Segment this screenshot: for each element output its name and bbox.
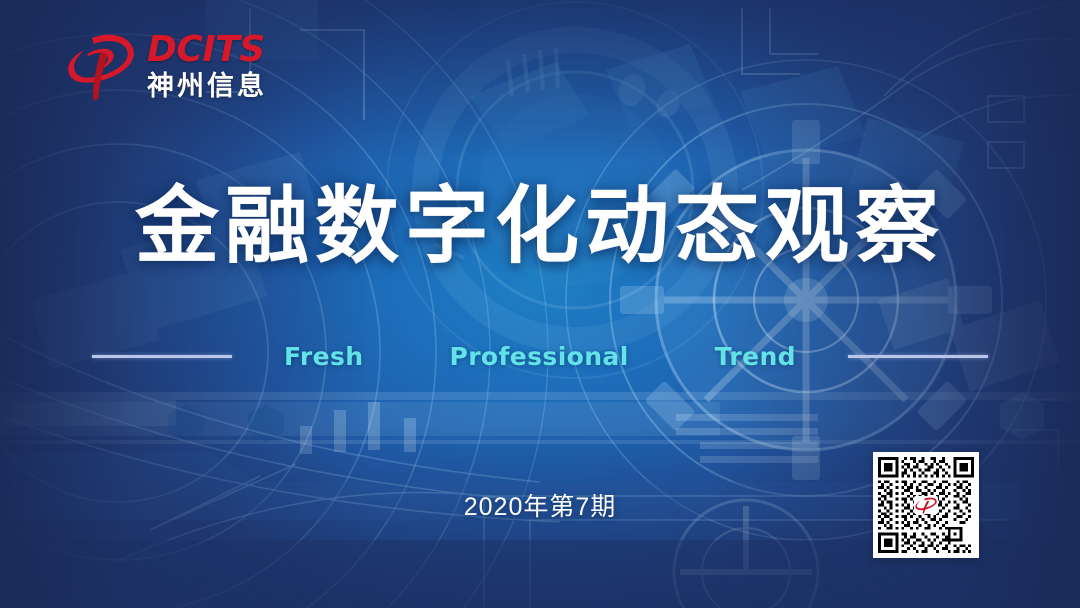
wechat-qr-code[interactable] <box>873 452 979 558</box>
tagline-words: Fresh Professional Trend <box>284 342 796 371</box>
dcits-qr-swirl-icon <box>914 457 938 553</box>
tagline-row: Fresh Professional Trend <box>0 340 1080 372</box>
dcits-swirl-icon <box>62 28 140 104</box>
tagline-rule-left <box>92 355 232 358</box>
logo-chinese-text: 神州信息 <box>147 73 267 100</box>
logo-latin-text: DCITS <box>147 32 267 68</box>
tagline-rule-right <box>848 355 988 358</box>
tagline-word-professional: Professional <box>449 342 628 371</box>
brand-logo: DCITS 神州信息 <box>62 28 267 104</box>
tagline-word-trend: Trend <box>715 342 796 371</box>
tagline-word-fresh: Fresh <box>284 342 363 371</box>
poster-canvas: DCITS 神州信息 金融数字化动态观察 Fresh Professional … <box>0 0 1080 608</box>
dcits-qr-center-logo <box>914 496 938 514</box>
page-title: 金融数字化动态观察 <box>0 184 1080 268</box>
